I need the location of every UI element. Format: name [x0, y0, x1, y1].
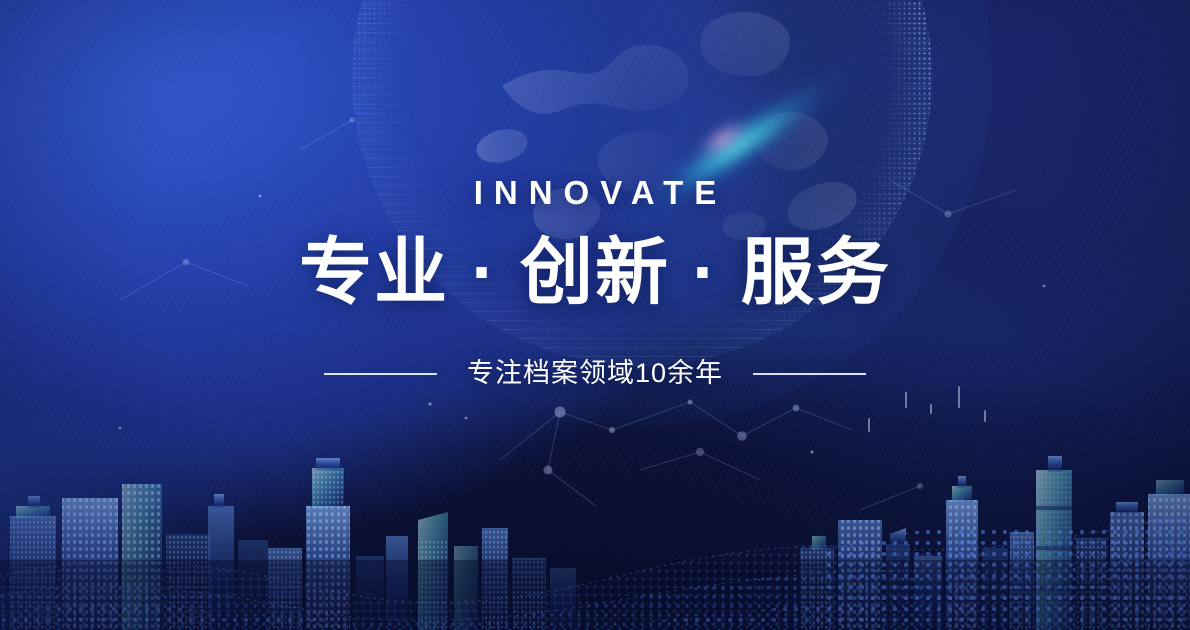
- divider-line-left: [324, 373, 437, 375]
- hero-banner: INNOVATE 专业 · 创新 · 服务 专注档案领域10余年: [0, 0, 1190, 630]
- hero-content: INNOVATE 专业 · 创新 · 服务 专注档案领域10余年: [0, 176, 1190, 387]
- divider-line-right: [753, 373, 866, 375]
- subtitle-text: 专注档案领域10余年: [467, 360, 723, 387]
- eyebrow-text: INNOVATE: [0, 176, 1190, 209]
- page-title: 专业 · 创新 · 服务: [0, 234, 1190, 311]
- subtitle-row: 专注档案领域10余年: [0, 360, 1190, 387]
